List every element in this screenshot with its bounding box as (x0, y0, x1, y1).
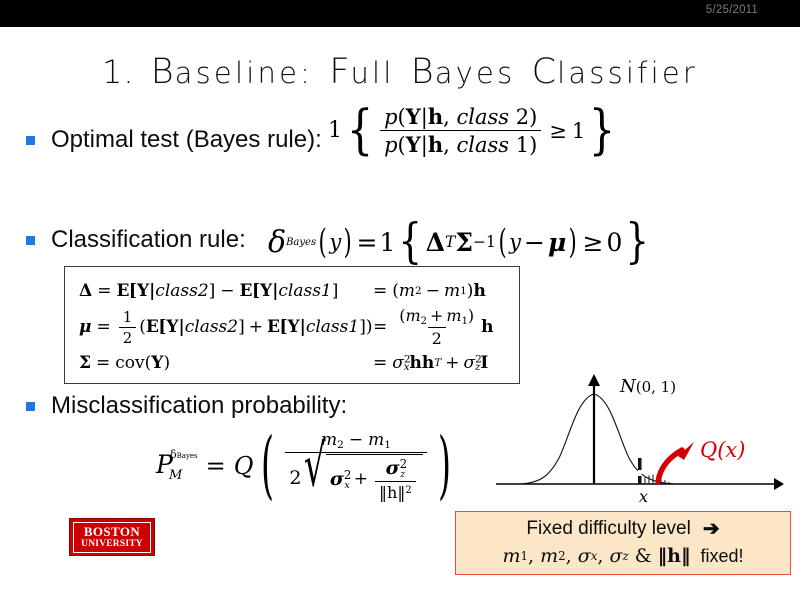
comma-2: , (566, 543, 572, 569)
title-rest-bayes: ayes (435, 56, 516, 90)
title-rest-baseline: aseline: (175, 56, 313, 90)
norm-of-h: ‖h‖ (379, 483, 405, 502)
m1-symbol-rhs: m (446, 306, 461, 325)
equals-sign-rhs: = (373, 353, 387, 373)
delta-bayes-superscript: δBayes (170, 449, 198, 460)
sigma-x-squared: σ2x (330, 468, 350, 491)
Delta-symbol: Δ (426, 228, 445, 257)
logo-line-university: UNIVERSITY (81, 538, 143, 550)
square-root-group: √ σ2x + σ2z ‖h‖2 (302, 454, 422, 502)
expectation-operator-1: E (146, 317, 158, 337)
mean-numerator: (m2+m1) (395, 306, 478, 328)
sigma-z-symbol: σ (609, 543, 622, 569)
equals-sign: = (96, 317, 110, 337)
formula-classification-rule: δBayes ( y ) = 1 { ΔT Σ−1 ( y − μ ) ≥ 0 … (268, 222, 653, 262)
sigma-z-subscript: z (475, 361, 481, 373)
plus-sign: + (354, 469, 368, 489)
norm-of-h: ‖h‖ (658, 543, 691, 569)
half-denominator: 2 (119, 327, 137, 347)
noise-denominator: ‖h‖2 (375, 481, 416, 502)
header-bar (0, 0, 800, 27)
bullet-label-misclassification: Misclassification probability: (51, 392, 347, 420)
rhs-one: 1 (572, 119, 585, 143)
paren-close-icon: ) (438, 443, 451, 489)
sigma-x-symbol: σ (392, 353, 404, 373)
plus-sign-rhs: + (430, 306, 443, 325)
script-N-glyph: N (620, 376, 636, 397)
noise-numerator: σ2z (382, 457, 410, 481)
radical-icon: √ (304, 443, 326, 512)
hh-outer-product: hh (410, 353, 435, 373)
indicator-one: 1 (379, 228, 395, 257)
num-bar: | (421, 105, 428, 129)
comma-1: , (528, 543, 534, 569)
expectation-operator-2: E (267, 317, 279, 337)
callout-text-fixed: fixed! (700, 543, 743, 569)
bracket-2: ] (359, 317, 366, 337)
title-rest-classifier: lassifier (557, 56, 698, 90)
norm-exponent: 2 (405, 485, 411, 496)
paren-open-icon: ( (261, 443, 274, 489)
title-cap-b1: B (151, 52, 175, 92)
y-axis-arrowhead (588, 374, 600, 386)
cond-Y-1: [Y| (158, 317, 184, 337)
expectation-operator-1: E (116, 281, 128, 301)
close-paren: ) (163, 353, 170, 373)
m2-subscript-rhs: 2 (421, 315, 427, 326)
den-h: h (428, 132, 443, 157)
fraction-numerator: p(Y|h, class 2) (380, 104, 541, 130)
sigma-z-squared: σ2z (464, 353, 481, 374)
equals-sign: = (206, 452, 226, 480)
paren-close-icon: ) (344, 222, 352, 262)
right-arrow-icon: ➔ (703, 517, 720, 541)
formula-optimal-test: 1 { p(Y|h, class 2) p(Y|h, class 1) ≥ 1 … (328, 104, 619, 157)
inverse-exponent: −1 (473, 233, 496, 251)
threshold-marker-gap (638, 470, 642, 476)
bullet-item-optimal-test: Optimal test (Bayes rule): (26, 126, 322, 154)
minus-sign-rhs: − (426, 281, 440, 301)
den-class-word: class (456, 133, 509, 157)
sigma-x-symbol: σ (578, 543, 591, 569)
plot-axis-label-x: x (639, 487, 648, 506)
num-close-paren: ) (529, 105, 537, 129)
likelihood-ratio-fraction: p(Y|h, class 2) p(Y|h, class 1) (380, 104, 541, 157)
bullet-label-classification-rule: Classification rule: (51, 226, 246, 254)
brace-close-icon: } (626, 225, 650, 259)
q-argument-fraction: m2−m1 2 √ σ2x + σ2z ‖h‖2 (285, 430, 426, 502)
delta-bold-symbol: Δ (79, 281, 92, 301)
m2-subscript: 2 (337, 439, 344, 451)
bayes-sup-subscript: Bayes (177, 452, 198, 460)
comma-3: , (597, 543, 603, 569)
title-cap-b2: B (411, 52, 435, 92)
sigma-x-squared: σ2x (392, 353, 409, 374)
den-comma: , (443, 133, 450, 157)
class1-label-2: class1 (306, 317, 359, 337)
slide-canvas: 5/25/2011 1. Baseline: Full Bayes Classi… (0, 0, 800, 600)
equals-sign: = (97, 281, 111, 301)
equation-row-delta: Δ = E[Y|class2] − E[Y|class1] = (m2−m1)h (79, 273, 509, 309)
plus-sign: + (249, 317, 263, 337)
title-cap-f: F (329, 52, 350, 92)
brace-open-icon: { (347, 111, 374, 150)
den-bar: | (421, 133, 428, 157)
class1-label-1: class1 (278, 281, 331, 301)
sigma-z-symbol: σ (464, 353, 476, 373)
m1-subscript: 1 (384, 439, 391, 451)
equals-sign-rhs: = (373, 317, 387, 337)
equals-sign: = (356, 228, 377, 257)
plot-label-q-function: Q(x) (700, 438, 745, 462)
equals-sign: = (96, 353, 110, 373)
paren-open-icon: ( (319, 222, 327, 262)
header-date: 5/25/2011 (706, 4, 758, 16)
close-paren-rhs: ) (468, 306, 474, 325)
title-cap-c: C (532, 52, 557, 92)
class2-label-1: class2 (155, 281, 208, 301)
den-class-index: 1 (516, 133, 529, 157)
bullet-square-icon (26, 136, 35, 145)
callout-line-1: Fixed difficulty level ➔ (526, 517, 719, 541)
relation-geq: ≥ (583, 228, 604, 257)
num-comma: , (443, 105, 450, 129)
mu-symbol: μ (548, 228, 566, 257)
cov-operator: cov (115, 353, 144, 373)
Q-function-symbol: Q (234, 452, 254, 480)
parameter-definitions-box: Δ = E[Y|class2] − E[Y|class1] = (m2−m1)h… (64, 266, 520, 384)
page-title: 1. Baseline: Full Bayes Classifier (0, 52, 800, 92)
mu-bold-symbol: μ (79, 317, 91, 337)
m1-symbol: m (444, 281, 460, 301)
radicand: σ2x + σ2z ‖h‖2 (326, 454, 423, 502)
q-denominator: 2 √ σ2x + σ2z ‖h‖2 (285, 452, 426, 502)
M-subscript: M (169, 469, 182, 482)
equation-row-mu: μ = 1 2 (E[Y|class2] + E[Y|class1]) = (m… (79, 309, 509, 345)
factor-two: 2 (289, 467, 301, 489)
bullet-square-icon (26, 236, 35, 245)
Y-vector: Y (151, 353, 163, 373)
brace-open-icon: { (399, 225, 423, 259)
logo-inner-frame: BOSTON UNIVERSITY (73, 522, 151, 553)
num-class-index: 2 (516, 105, 529, 129)
cond-Y-1: [Y| (129, 281, 155, 301)
den-p: p (384, 133, 397, 157)
Sigma-bold-symbol: Σ (79, 353, 91, 373)
delta-symbol: δ (268, 225, 286, 260)
sigma-z-subscript: z (400, 469, 405, 480)
boston-university-logo: BOSTON UNIVERSITY (69, 518, 155, 556)
callout-box-fixed-difficulty: Fixed difficulty level ➔ m1, m2, σx, σz … (455, 511, 791, 575)
equation-mu-rhs: = (m2+m1) 2 h (373, 306, 494, 349)
m1-symbol: m (502, 543, 520, 569)
paren-open-icon-2: ( (498, 222, 506, 262)
callout-text-fixed-difficulty: Fixed difficulty level (526, 517, 690, 541)
Sigma-symbol: Σ (455, 228, 473, 257)
half-numerator: 1 (119, 308, 137, 327)
bullet-square-icon (26, 402, 35, 411)
sigma-z-symbol: σ (386, 457, 400, 479)
sigma-z-subscript: z (622, 543, 628, 569)
cond-Y-2: [Y| (252, 281, 278, 301)
num-h: h (428, 104, 443, 129)
equation-delta-lhs: Δ = E[Y|class2] − E[Y|class1] (79, 281, 373, 301)
argument-y-2: y (509, 230, 521, 254)
mean-denominator: 2 (428, 327, 446, 348)
m2-subscript: 2 (415, 285, 422, 297)
title-rest-full: ull (350, 56, 394, 90)
fraction-denominator: p(Y|h, class 1) (380, 130, 541, 157)
open-paren: ( (392, 281, 399, 301)
minus-sign: − (349, 430, 363, 450)
equation-row-sigma: Σ = cov(Y) = σ2x hhT + σ2z I (79, 345, 509, 381)
den-open-paren: ( (398, 133, 406, 157)
bullet-item-misclassification: Misclassification probability: (26, 392, 347, 420)
transpose-exponent: T (434, 357, 441, 369)
mean-fraction: (m2+m1) 2 (395, 306, 478, 349)
den-close-paren: ) (529, 133, 537, 157)
m1-subscript: 1 (460, 285, 467, 297)
q-numerator: m2−m1 (317, 430, 395, 452)
sigma-x-symbol: σ (330, 468, 344, 490)
m2-symbol-rhs: m (406, 306, 421, 325)
rhs-zero: 0 (607, 228, 623, 257)
delta-subscript: Bayes (286, 237, 316, 248)
bracket-1: ] (238, 317, 245, 337)
plus-sign: + (445, 353, 459, 373)
expectation-operator-2: E (240, 281, 252, 301)
paren-close-icon-2: ) (569, 222, 577, 262)
indicator-one: 1 (328, 118, 342, 143)
equation-sigma-lhs: Σ = cov(Y) (79, 353, 373, 373)
normal-density-curve (520, 394, 676, 484)
probability-symbol-group: δBayes P M (156, 449, 198, 482)
m1-symbol: m (368, 430, 384, 450)
callout-arrow-curve (658, 450, 682, 482)
close-paren: ) (366, 317, 373, 337)
m2-symbol: m (540, 543, 558, 569)
callout-line-2: m1, m2, σx, σz & ‖h‖fixed! (502, 543, 743, 569)
cond-Y-2: [Y| (279, 317, 305, 337)
bullet-label-optimal-test: Optimal test (Bayes rule): (51, 126, 322, 154)
minus-sign: − (220, 281, 234, 301)
transpose-exponent: T (445, 233, 455, 251)
title-number: 1. (102, 53, 135, 91)
open-paren: ( (139, 317, 146, 337)
num-Y: Y (406, 104, 421, 129)
bracket-1: ] (209, 281, 216, 301)
equation-mu-lhs: μ = 1 2 (E[Y|class2] + E[Y|class1]) (79, 308, 373, 347)
one-half-fraction: 1 2 (119, 308, 137, 347)
x-axis-arrowhead (774, 478, 784, 490)
m2-symbol: m (399, 281, 415, 301)
minus-sign: − (524, 228, 545, 257)
sigma-x-subscript: x (404, 361, 410, 373)
equation-sigma-rhs: = σ2x hhT + σ2z I (373, 353, 488, 374)
logo-line-boston: BOSTON (84, 525, 140, 538)
sigma-x-subscript: x (591, 543, 598, 569)
m2-subscript: 2 (558, 543, 566, 569)
argument-y: y (329, 230, 341, 254)
m1-subscript: 1 (521, 543, 529, 569)
equals-sign-rhs: = (373, 281, 387, 301)
h-vector: h (473, 281, 485, 301)
num-class-word: class (456, 105, 509, 129)
brace-close-icon: } (589, 111, 616, 150)
num-open-paren: ( (398, 105, 406, 129)
den-Y: Y (406, 132, 421, 157)
h-vector: h (481, 317, 493, 337)
bullet-item-classification-rule: Classification rule: (26, 226, 246, 254)
relation-geq: ≥ (549, 119, 567, 143)
bracket-2: ] (332, 281, 339, 301)
ampersand: & (635, 543, 652, 569)
formula-misclassification-probability: δBayes P M = Q ( m2−m1 2 √ σ2x + (156, 430, 459, 502)
plot-label-normal: N(0, 1) (620, 376, 676, 397)
noise-ratio-fraction: σ2z ‖h‖2 (375, 457, 416, 502)
num-p: p (384, 105, 397, 129)
sigma-x-subscript: x (344, 480, 349, 491)
equation-delta-rhs: = (m2−m1)h (373, 281, 486, 301)
close-paren: ) (467, 281, 474, 301)
class2-label-2: class2 (185, 317, 238, 337)
normal-params: (0, 1) (636, 378, 676, 396)
